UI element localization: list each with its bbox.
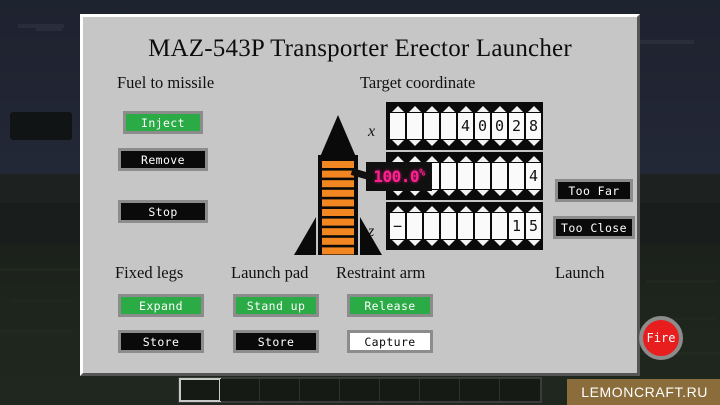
digit-decrement-arrow-icon[interactable] bbox=[511, 240, 523, 246]
fuel-section-label: Fuel to missile bbox=[117, 73, 214, 93]
digit-increment-arrow-icon[interactable] bbox=[426, 106, 438, 112]
digit-cell[interactable]: 5 bbox=[526, 206, 541, 246]
fuel-bar bbox=[322, 209, 354, 216]
digit-increment-arrow-icon[interactable] bbox=[409, 106, 421, 112]
digit-value[interactable] bbox=[458, 213, 473, 239]
digit-value[interactable] bbox=[475, 213, 490, 239]
fuel-bar bbox=[322, 199, 354, 206]
hotbar-slot[interactable] bbox=[340, 379, 380, 401]
too-close-button[interactable]: Too Close bbox=[553, 216, 635, 239]
digit-increment-arrow-icon[interactable] bbox=[494, 156, 506, 162]
digit-decrement-arrow-icon[interactable] bbox=[511, 140, 523, 146]
digit-value[interactable] bbox=[509, 163, 524, 189]
digit-decrement-arrow-icon[interactable] bbox=[528, 190, 540, 196]
fuel-bar bbox=[322, 161, 354, 168]
digit-cell[interactable] bbox=[492, 206, 507, 246]
fuel-bar bbox=[322, 238, 354, 245]
digit-increment-arrow-icon[interactable] bbox=[477, 206, 489, 212]
digit-value[interactable] bbox=[441, 163, 456, 189]
digit-value[interactable]: 0 bbox=[475, 113, 490, 139]
digit-cell[interactable] bbox=[441, 106, 456, 146]
digit-value[interactable]: 1 bbox=[509, 213, 524, 239]
digit-value[interactable] bbox=[441, 113, 456, 139]
hotbar-slot[interactable] bbox=[380, 379, 420, 401]
digit-increment-arrow-icon[interactable] bbox=[443, 156, 455, 162]
launcher-gui-panel: MAZ-543P Transporter Erector Launcher Fu… bbox=[80, 14, 640, 376]
digit-value[interactable]: 0 bbox=[492, 113, 507, 139]
digit-decrement-arrow-icon[interactable] bbox=[409, 240, 421, 246]
digit-decrement-arrow-icon[interactable] bbox=[392, 240, 404, 246]
digit-value[interactable] bbox=[407, 213, 422, 239]
digit-cell[interactable]: 8 bbox=[526, 106, 541, 146]
fixed-legs-expand-button[interactable]: Expand bbox=[118, 294, 204, 317]
digit-cell[interactable] bbox=[390, 106, 405, 146]
hotbar-slot[interactable] bbox=[180, 379, 220, 401]
too-far-button[interactable]: Too Far bbox=[555, 179, 633, 202]
digit-cell[interactable] bbox=[475, 156, 490, 196]
digit-increment-arrow-icon[interactable] bbox=[494, 106, 506, 112]
launch-pad-stand-up-button[interactable]: Stand up bbox=[233, 294, 319, 317]
digit-decrement-arrow-icon[interactable] bbox=[460, 190, 472, 196]
digit-cell[interactable] bbox=[441, 156, 456, 196]
digit-value[interactable]: 4 bbox=[526, 163, 541, 189]
digit-increment-arrow-icon[interactable] bbox=[511, 206, 523, 212]
fuel-bar bbox=[322, 247, 354, 254]
coord-row-x[interactable]: 40028 bbox=[386, 102, 543, 150]
digit-cell[interactable] bbox=[458, 206, 473, 246]
fuel-bar bbox=[322, 228, 354, 235]
digit-value[interactable]: 8 bbox=[526, 113, 541, 139]
fuel-bar bbox=[322, 190, 354, 197]
digit-value[interactable] bbox=[458, 163, 473, 189]
digit-decrement-arrow-icon[interactable] bbox=[477, 190, 489, 196]
digit-cell[interactable]: 2 bbox=[509, 106, 524, 146]
digit-increment-arrow-icon[interactable] bbox=[511, 156, 523, 162]
digit-decrement-arrow-icon[interactable] bbox=[528, 240, 540, 246]
fixed-legs-store-button[interactable]: Store bbox=[118, 330, 204, 353]
digit-decrement-arrow-icon[interactable] bbox=[443, 140, 455, 146]
hotbar-slot[interactable] bbox=[260, 379, 300, 401]
digit-value[interactable]: 2 bbox=[509, 113, 524, 139]
digit-cell[interactable]: 4 bbox=[526, 156, 541, 196]
digit-increment-arrow-icon[interactable] bbox=[477, 156, 489, 162]
target-coordinate-label: Target coordinate bbox=[360, 73, 475, 93]
digit-decrement-arrow-icon[interactable] bbox=[392, 140, 404, 146]
digit-decrement-arrow-icon[interactable] bbox=[494, 190, 506, 196]
digit-increment-arrow-icon[interactable] bbox=[392, 206, 404, 212]
digit-value[interactable] bbox=[492, 163, 507, 189]
fuel-percentage-display: 100.0% bbox=[366, 162, 432, 191]
digit-cell[interactable] bbox=[492, 156, 507, 196]
digit-decrement-arrow-icon[interactable] bbox=[494, 140, 506, 146]
digit-value[interactable] bbox=[424, 213, 439, 239]
fuel-bar bbox=[322, 180, 354, 187]
digit-cell[interactable]: 0 bbox=[475, 106, 490, 146]
digit-decrement-arrow-icon[interactable] bbox=[494, 240, 506, 246]
digit-increment-arrow-icon[interactable] bbox=[528, 156, 540, 162]
digit-value[interactable]: − bbox=[390, 213, 405, 239]
game-screen: MAZ-543P Transporter Erector Launcher Fu… bbox=[0, 0, 720, 405]
digit-increment-arrow-icon[interactable] bbox=[426, 206, 438, 212]
digit-cell[interactable]: − bbox=[390, 206, 405, 246]
fuel-inject-button[interactable]: Inject bbox=[123, 111, 203, 134]
fuel-bar bbox=[322, 219, 354, 226]
fuel-remove-button[interactable]: Remove bbox=[118, 148, 208, 171]
fire-button[interactable]: Fire bbox=[639, 316, 683, 360]
site-watermark: LEMONCRAFT.RU bbox=[567, 379, 720, 405]
restraint-arm-release-button[interactable]: Release bbox=[347, 294, 433, 317]
digit-cell[interactable]: 1 bbox=[509, 206, 524, 246]
digit-increment-arrow-icon[interactable] bbox=[392, 106, 404, 112]
digit-decrement-arrow-icon[interactable] bbox=[477, 140, 489, 146]
digit-decrement-arrow-icon[interactable] bbox=[443, 240, 455, 246]
digit-cell[interactable] bbox=[458, 156, 473, 196]
fuel-bar bbox=[322, 171, 354, 178]
hotbar-slot[interactable] bbox=[420, 379, 460, 401]
digit-cell[interactable] bbox=[475, 206, 490, 246]
digit-increment-arrow-icon[interactable] bbox=[460, 106, 472, 112]
digit-decrement-arrow-icon[interactable] bbox=[528, 140, 540, 146]
digit-decrement-arrow-icon[interactable] bbox=[460, 240, 472, 246]
digit-value[interactable] bbox=[475, 163, 490, 189]
digit-cell[interactable] bbox=[441, 206, 456, 246]
digit-decrement-arrow-icon[interactable] bbox=[460, 140, 472, 146]
digit-value[interactable] bbox=[390, 113, 405, 139]
digit-decrement-arrow-icon[interactable] bbox=[477, 240, 489, 246]
hotbar-slot[interactable] bbox=[500, 379, 540, 401]
restraint-arm-label: Restraint arm bbox=[336, 263, 425, 283]
launch-pad-store-button[interactable]: Store bbox=[233, 330, 319, 353]
digit-increment-arrow-icon[interactable] bbox=[409, 206, 421, 212]
digit-increment-arrow-icon[interactable] bbox=[443, 206, 455, 212]
digit-increment-arrow-icon[interactable] bbox=[443, 106, 455, 112]
hotbar-slot[interactable] bbox=[460, 379, 500, 401]
page-title: MAZ-543P Transporter Erector Launcher bbox=[83, 35, 637, 63]
digit-cell[interactable] bbox=[424, 106, 439, 146]
digit-cell[interactable]: 4 bbox=[458, 106, 473, 146]
hotbar-slot[interactable] bbox=[220, 379, 260, 401]
digit-decrement-arrow-icon[interactable] bbox=[426, 140, 438, 146]
restraint-arm-capture-button[interactable]: Capture bbox=[347, 330, 433, 353]
digit-increment-arrow-icon[interactable] bbox=[494, 206, 506, 212]
digit-value[interactable]: 5 bbox=[526, 213, 541, 239]
coord-row-z[interactable]: −15 bbox=[386, 202, 543, 250]
digit-value[interactable] bbox=[407, 113, 422, 139]
digit-increment-arrow-icon[interactable] bbox=[460, 206, 472, 212]
digit-cell[interactable] bbox=[407, 106, 422, 146]
digit-decrement-arrow-icon[interactable] bbox=[443, 190, 455, 196]
fixed-legs-label: Fixed legs bbox=[115, 263, 183, 283]
digit-cell[interactable] bbox=[509, 156, 524, 196]
digit-increment-arrow-icon[interactable] bbox=[511, 106, 523, 112]
hotbar[interactable] bbox=[178, 377, 542, 403]
launch-section-label: Launch bbox=[555, 263, 604, 283]
digit-decrement-arrow-icon[interactable] bbox=[511, 190, 523, 196]
digit-increment-arrow-icon[interactable] bbox=[460, 156, 472, 162]
digit-value[interactable]: 4 bbox=[458, 113, 473, 139]
launch-pad-label: Launch pad bbox=[231, 263, 308, 283]
digit-cell[interactable] bbox=[407, 206, 422, 246]
digit-increment-arrow-icon[interactable] bbox=[477, 106, 489, 112]
digit-value[interactable] bbox=[441, 213, 456, 239]
fuel-percentage-value: 100.0% bbox=[373, 167, 424, 186]
digit-cell[interactable] bbox=[424, 206, 439, 246]
fuel-stop-button[interactable]: Stop bbox=[118, 200, 208, 223]
digit-cell[interactable]: 0 bbox=[492, 106, 507, 146]
digit-value[interactable] bbox=[492, 213, 507, 239]
digit-decrement-arrow-icon[interactable] bbox=[409, 140, 421, 146]
digit-decrement-arrow-icon[interactable] bbox=[426, 240, 438, 246]
digit-increment-arrow-icon[interactable] bbox=[528, 106, 540, 112]
digit-value[interactable] bbox=[424, 113, 439, 139]
hotbar-slot[interactable] bbox=[300, 379, 340, 401]
digit-increment-arrow-icon[interactable] bbox=[528, 206, 540, 212]
